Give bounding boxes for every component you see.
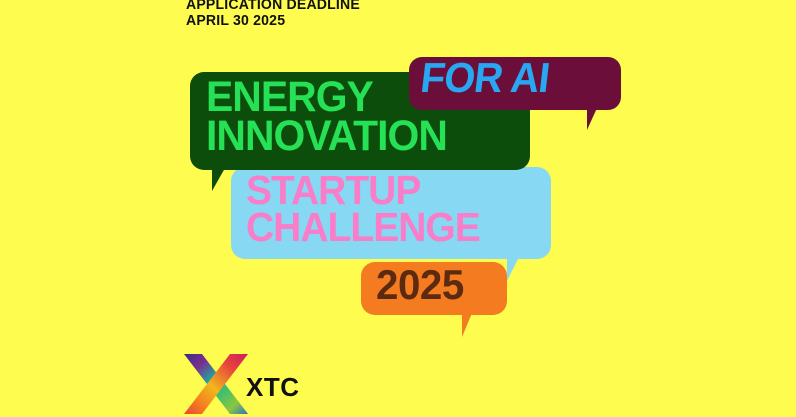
bubble-year: 2025 (361, 262, 507, 315)
bubble-for-ai: FOR AI (409, 57, 621, 110)
application-deadline: APPLICATION DEADLINE APRIL 30 2025 (186, 0, 360, 29)
bubble-year-tail (462, 313, 481, 337)
xtc-wordmark: XTC (246, 372, 300, 403)
bubble-startup-text: STARTUP CHALLENGE (246, 173, 480, 245)
startup-line-2: CHALLENGE (246, 210, 480, 244)
logo-row: XTC FT LIVE (0, 352, 796, 417)
deadline-line-2: APRIL 30 2025 (186, 14, 360, 30)
bubble-for-ai-text: FOR AI (419, 60, 551, 95)
bubble-startup-tail (507, 257, 529, 281)
bubble-startup-challenge: STARTUP CHALLENGE (231, 167, 551, 259)
deadline-line-1: APPLICATION DEADLINE (186, 0, 360, 14)
energy-line-2: INNOVATION (206, 118, 447, 154)
bubble-for-ai-tail (587, 108, 606, 130)
poster-canvas: APPLICATION DEADLINE APRIL 30 2025 ENERG… (0, 0, 796, 417)
x-gradient-icon (182, 353, 250, 415)
bubble-energy-tail (212, 168, 236, 191)
startup-line-1: STARTUP (246, 173, 480, 207)
bubble-year-text: 2025 (376, 267, 464, 302)
xtc-logo: XTC (182, 353, 312, 415)
